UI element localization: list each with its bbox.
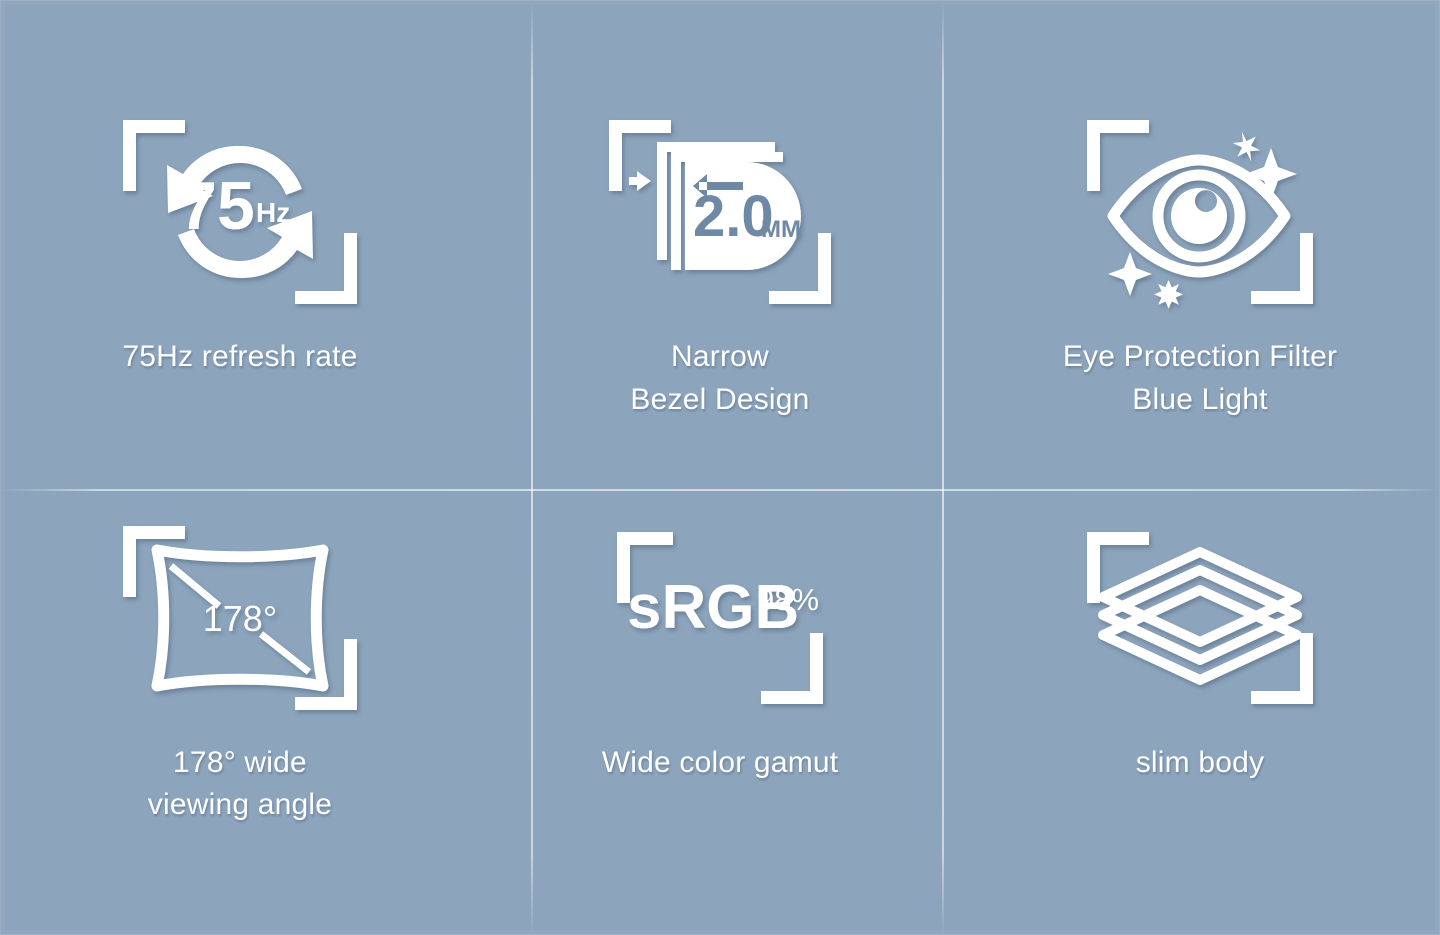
feature-cell-narrow-bezel[interactable]: 2.0 MM Narrow Bezel Design xyxy=(480,0,960,468)
feature-caption: slim body xyxy=(1136,742,1265,785)
feature-caption: 75Hz refresh rate xyxy=(122,336,357,379)
feature-cell-slim-body[interactable]: slim body xyxy=(960,468,1440,935)
refresh-cycle-icon: 75 Hz xyxy=(115,112,365,312)
feature-caption: 178° wide viewing angle xyxy=(148,742,332,828)
curved-screen-angle-icon: 178° xyxy=(115,518,365,718)
viewing-angle-value: 178° xyxy=(203,598,277,639)
feature-cell-color-gamut[interactable]: sRGB 98% Wide color gamut xyxy=(480,468,960,935)
feature-caption: Wide color gamut xyxy=(602,742,839,785)
feature-grid: 75 Hz 75Hz refresh rate 2.0 MM xyxy=(0,0,1440,935)
feature-caption: Narrow Bezel Design xyxy=(630,336,809,422)
feature-caption: Eye Protection Filter Blue Light xyxy=(1063,336,1337,422)
feature-cell-eye-protection[interactable]: Eye Protection Filter Blue Light xyxy=(960,0,1440,468)
refresh-rate-value: 75 xyxy=(179,168,255,244)
bezel-width-unit: MM xyxy=(761,216,801,243)
srgb-coverage: 98% xyxy=(757,582,819,617)
srgb-badge-icon: sRGB 98% xyxy=(595,518,845,718)
eye-sparkle-icon xyxy=(1075,112,1325,312)
narrow-bezel-screens-icon: 2.0 MM xyxy=(595,112,845,312)
stacked-layers-icon xyxy=(1075,518,1325,718)
feature-cell-viewing-angle[interactable]: 178° 178° wide viewing angle xyxy=(0,468,480,935)
refresh-rate-unit: Hz xyxy=(256,197,290,228)
feature-cell-refresh-rate[interactable]: 75 Hz 75Hz refresh rate xyxy=(0,0,480,468)
